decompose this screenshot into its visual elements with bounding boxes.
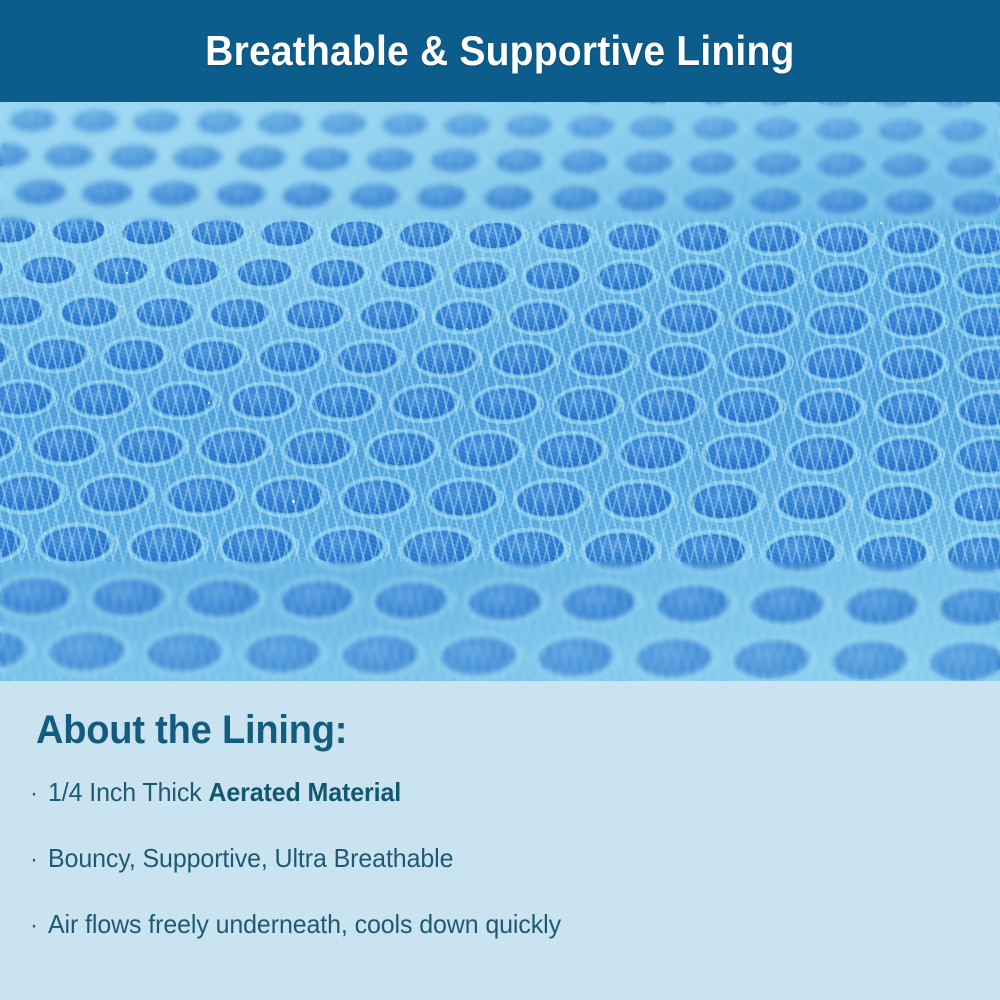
mesh-hole-pattern (0, 102, 1000, 681)
product-infographic: Breathable & Supportive Lining About the… (0, 0, 1000, 1000)
page-title: Breathable & Supportive Lining (205, 30, 794, 72)
bullet-dot-icon: · (30, 848, 48, 872)
feature-bullet-text: Bouncy, Supportive, Ultra Breathable (48, 843, 453, 874)
feature-bullet-text: 1/4 Inch Thick Aerated Material (48, 777, 401, 808)
lining-fabric-photo (0, 102, 1000, 681)
bullet-dot-icon: · (30, 782, 48, 806)
header-banner: Breathable & Supportive Lining (0, 0, 1000, 102)
feature-bullet-item: ·Bouncy, Supportive, Ultra Breathable (30, 843, 980, 909)
feature-bullet-item: ·1/4 Inch Thick Aerated Material (30, 777, 980, 843)
about-heading: About the Lining: (36, 708, 347, 753)
bullet-dot-icon: · (30, 914, 48, 938)
feature-bullet-emphasis: Aerated Material (208, 777, 401, 807)
feature-bullet-item: ·Air flows freely underneath, cools down… (30, 909, 980, 975)
feature-bullet-text: Air flows freely underneath, cools down … (48, 909, 561, 940)
feature-bullet-list: ·1/4 Inch Thick Aerated Material·Bouncy,… (30, 777, 980, 975)
about-lining-panel: About the Lining: ·1/4 Inch Thick Aerate… (0, 681, 1000, 1000)
